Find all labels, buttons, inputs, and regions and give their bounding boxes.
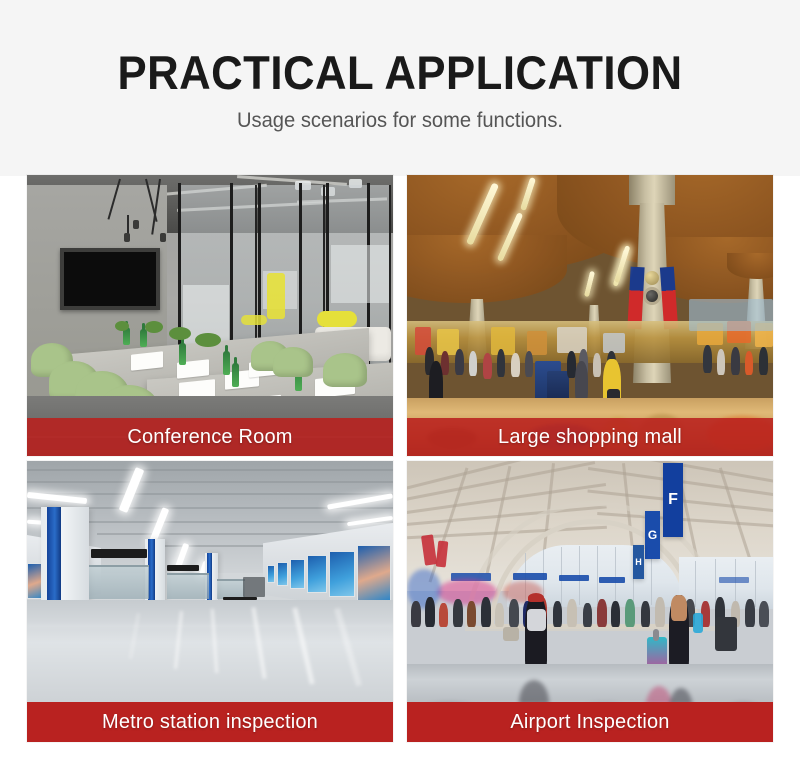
caption-label: Metro station inspection	[102, 711, 318, 734]
gate-sign-h: H	[633, 545, 644, 579]
caption-label: Large shopping mall	[498, 426, 682, 449]
shopping-mall-image	[407, 175, 773, 456]
caption-bar: Metro station inspection	[27, 702, 393, 742]
scenario-card-metro-station[interactable]: Metro station inspection	[27, 461, 393, 742]
caption-bar: Airport Inspection	[407, 702, 773, 742]
scenario-grid: Conference Room	[27, 175, 773, 742]
caption-bar: Large shopping mall	[407, 418, 773, 456]
gate-sign-h-label: H	[635, 557, 642, 567]
airport-image: F G H	[407, 461, 773, 742]
caption-bar: Conference Room	[27, 418, 393, 456]
page-title: PRACTICAL APPLICATION	[28, 48, 772, 97]
gate-sign-f-label: F	[668, 491, 678, 509]
scenario-card-airport[interactable]: F G H	[407, 461, 773, 742]
page-subtitle: Usage scenarios for some functions.	[16, 109, 784, 133]
metro-station-image	[27, 461, 393, 742]
conference-room-image	[27, 175, 393, 456]
gate-sign-f: F	[663, 463, 683, 537]
page-header: PRACTICAL APPLICATION Usage scenarios fo…	[0, 0, 800, 176]
caption-label: Airport Inspection	[510, 711, 669, 734]
caption-label: Conference Room	[127, 426, 292, 449]
scenario-card-conference-room[interactable]: Conference Room	[27, 175, 393, 456]
gate-sign-g-label: G	[648, 528, 657, 542]
gate-sign-g: G	[645, 511, 660, 559]
practical-application-page: PRACTICAL APPLICATION Usage scenarios fo…	[0, 0, 800, 784]
scenario-card-large-shopping-mall[interactable]: Large shopping mall	[407, 175, 773, 456]
